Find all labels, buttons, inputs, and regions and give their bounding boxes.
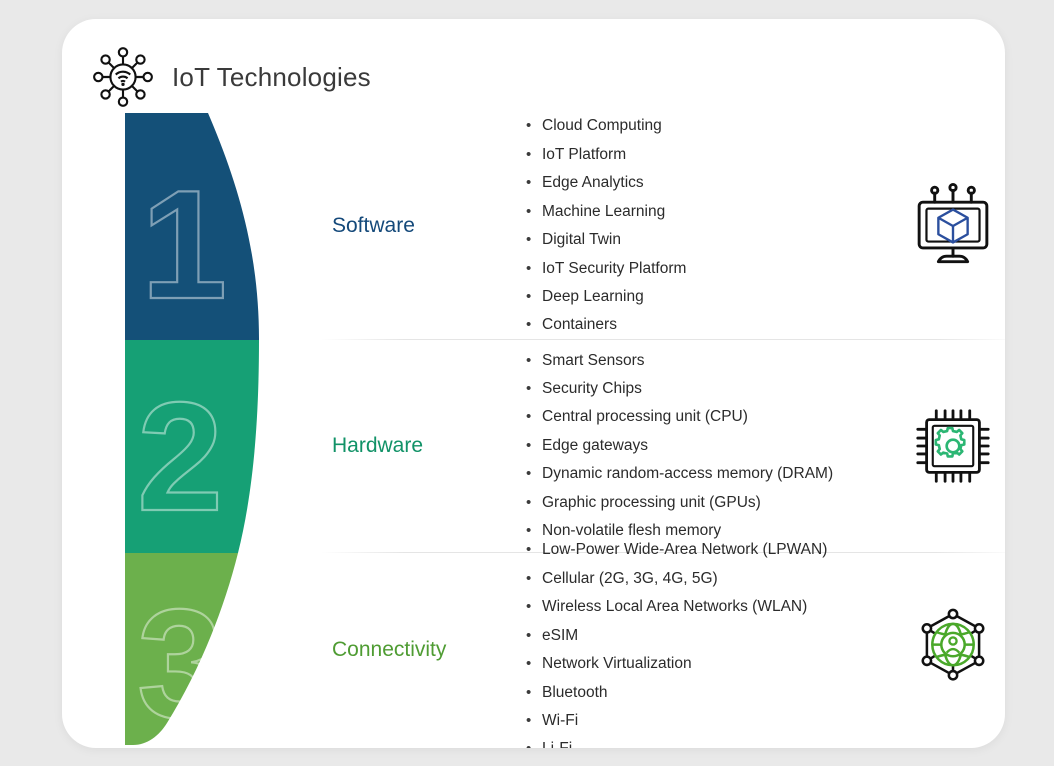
- item-list-hardware: •Smart Sensors •Security Chips •Central …: [500, 346, 901, 545]
- list-item-label: Network Virtualization: [542, 656, 692, 672]
- list-item: •Cloud Computing: [526, 112, 901, 140]
- numbered-bands: 1 2 3: [63, 113, 293, 747]
- bullet-icon: •: [526, 232, 542, 248]
- list-item: •Central processing unit (CPU): [526, 403, 901, 431]
- bullet-icon: •: [526, 147, 542, 163]
- bullet-icon: •: [526, 741, 542, 748]
- list-item: •Cellular (2G, 3G, 4G, 5G): [526, 565, 901, 593]
- iot-hub-wifi-icon: [92, 46, 154, 108]
- list-item: •Digital Twin: [526, 226, 901, 254]
- page-title: IoT Technologies: [172, 62, 371, 93]
- section-connectivity: Connectivity •Low-Power Wide-Area Networ…: [294, 553, 1005, 747]
- bullet-icon: •: [526, 495, 542, 511]
- bullet-icon: •: [526, 438, 542, 454]
- network-globe-user-icon: [901, 605, 1005, 695]
- list-item-label: Edge gateways: [542, 438, 648, 454]
- category-label-hardware: Hardware: [294, 434, 500, 458]
- bullet-icon: •: [526, 175, 542, 191]
- list-item-label: Wireless Local Area Networks (WLAN): [542, 599, 807, 615]
- list-item-label: Edge Analytics: [542, 175, 644, 191]
- section-hardware: Hardware •Smart Sensors •Security Chips …: [294, 340, 1005, 552]
- list-item: •IoT Platform: [526, 141, 901, 169]
- list-item-label: Central processing unit (CPU): [542, 409, 748, 425]
- list-item: •Edge gateways: [526, 432, 901, 460]
- band-number-2: 2: [137, 370, 223, 543]
- item-list-software: •Cloud Computing •IoT Platform •Edge Ana…: [500, 112, 901, 340]
- list-item: •Graphic processing unit (GPUs): [526, 489, 901, 517]
- category-label-software: Software: [294, 214, 500, 238]
- bullet-icon: •: [526, 118, 542, 134]
- list-item-label: Cloud Computing: [542, 118, 662, 134]
- infographic-card: IoT Technologies 1 2 3: [62, 19, 1005, 748]
- bullet-icon: •: [526, 656, 542, 672]
- list-item-label: Li-Fi: [542, 741, 572, 748]
- list-item-label: Low-Power Wide-Area Network (LPWAN): [542, 542, 827, 558]
- bullet-icon: •: [526, 204, 542, 220]
- list-item-label: Digital Twin: [542, 232, 621, 248]
- band-number-3: 3: [137, 577, 223, 747]
- bullet-icon: •: [526, 685, 542, 701]
- list-item: •Low-Power Wide-Area Network (LPWAN): [526, 536, 901, 564]
- bullet-icon: •: [526, 261, 542, 277]
- header: IoT Technologies: [92, 39, 371, 115]
- list-item: •Edge Analytics: [526, 169, 901, 197]
- bullet-icon: •: [526, 381, 542, 397]
- section-software: Software •Cloud Computing •IoT Platform …: [294, 113, 1005, 339]
- list-item-label: Wi-Fi: [542, 713, 578, 729]
- list-item: •Wireless Local Area Networks (WLAN): [526, 593, 901, 621]
- list-item-label: Machine Learning: [542, 204, 665, 220]
- bullet-icon: •: [526, 289, 542, 305]
- list-item: •Network Virtualization: [526, 650, 901, 678]
- list-item-label: Smart Sensors: [542, 353, 645, 369]
- band-number-1: 1: [141, 158, 227, 331]
- list-item: •Machine Learning: [526, 198, 901, 226]
- bullet-icon: •: [526, 713, 542, 729]
- list-item: •Wi-Fi: [526, 707, 901, 735]
- list-item-label: Deep Learning: [542, 289, 644, 305]
- list-item: •Security Chips: [526, 375, 901, 403]
- list-item-label: Graphic processing unit (GPUs): [542, 495, 761, 511]
- item-list-connectivity: •Low-Power Wide-Area Network (LPWAN) •Ce…: [500, 536, 901, 748]
- list-item-label: eSIM: [542, 628, 578, 644]
- list-item-label: IoT Security Platform: [542, 261, 686, 277]
- list-item: •Deep Learning: [526, 283, 901, 311]
- list-item-label: Dynamic random-access memory (DRAM): [542, 466, 833, 482]
- bullet-icon: •: [526, 353, 542, 369]
- list-item: •Dynamic random-access memory (DRAM): [526, 460, 901, 488]
- list-item-label: IoT Platform: [542, 147, 626, 163]
- bullet-icon: •: [526, 571, 542, 587]
- list-item: •Li-Fi: [526, 735, 901, 748]
- list-item-label: Cellular (2G, 3G, 4G, 5G): [542, 571, 718, 587]
- monitor-cube-icon: [901, 183, 1005, 269]
- bullet-icon: •: [526, 409, 542, 425]
- list-item-label: Bluetooth: [542, 685, 608, 701]
- list-item-label: Security Chips: [542, 381, 642, 397]
- category-label-connectivity: Connectivity: [294, 638, 500, 662]
- bullet-icon: •: [526, 466, 542, 482]
- list-item: •eSIM: [526, 622, 901, 650]
- bullet-icon: •: [526, 628, 542, 644]
- bullet-icon: •: [526, 542, 542, 558]
- bullet-icon: •: [526, 317, 542, 333]
- cpu-chip-gear-icon: [901, 402, 1005, 490]
- list-item-label: Containers: [542, 317, 617, 333]
- list-item: •Smart Sensors: [526, 346, 901, 374]
- infographic-canvas: IoT Technologies 1 2 3: [0, 0, 1054, 766]
- list-item: •Bluetooth: [526, 678, 901, 706]
- list-item: •Containers: [526, 311, 901, 339]
- bullet-icon: •: [526, 599, 542, 615]
- list-item: •IoT Security Platform: [526, 254, 901, 282]
